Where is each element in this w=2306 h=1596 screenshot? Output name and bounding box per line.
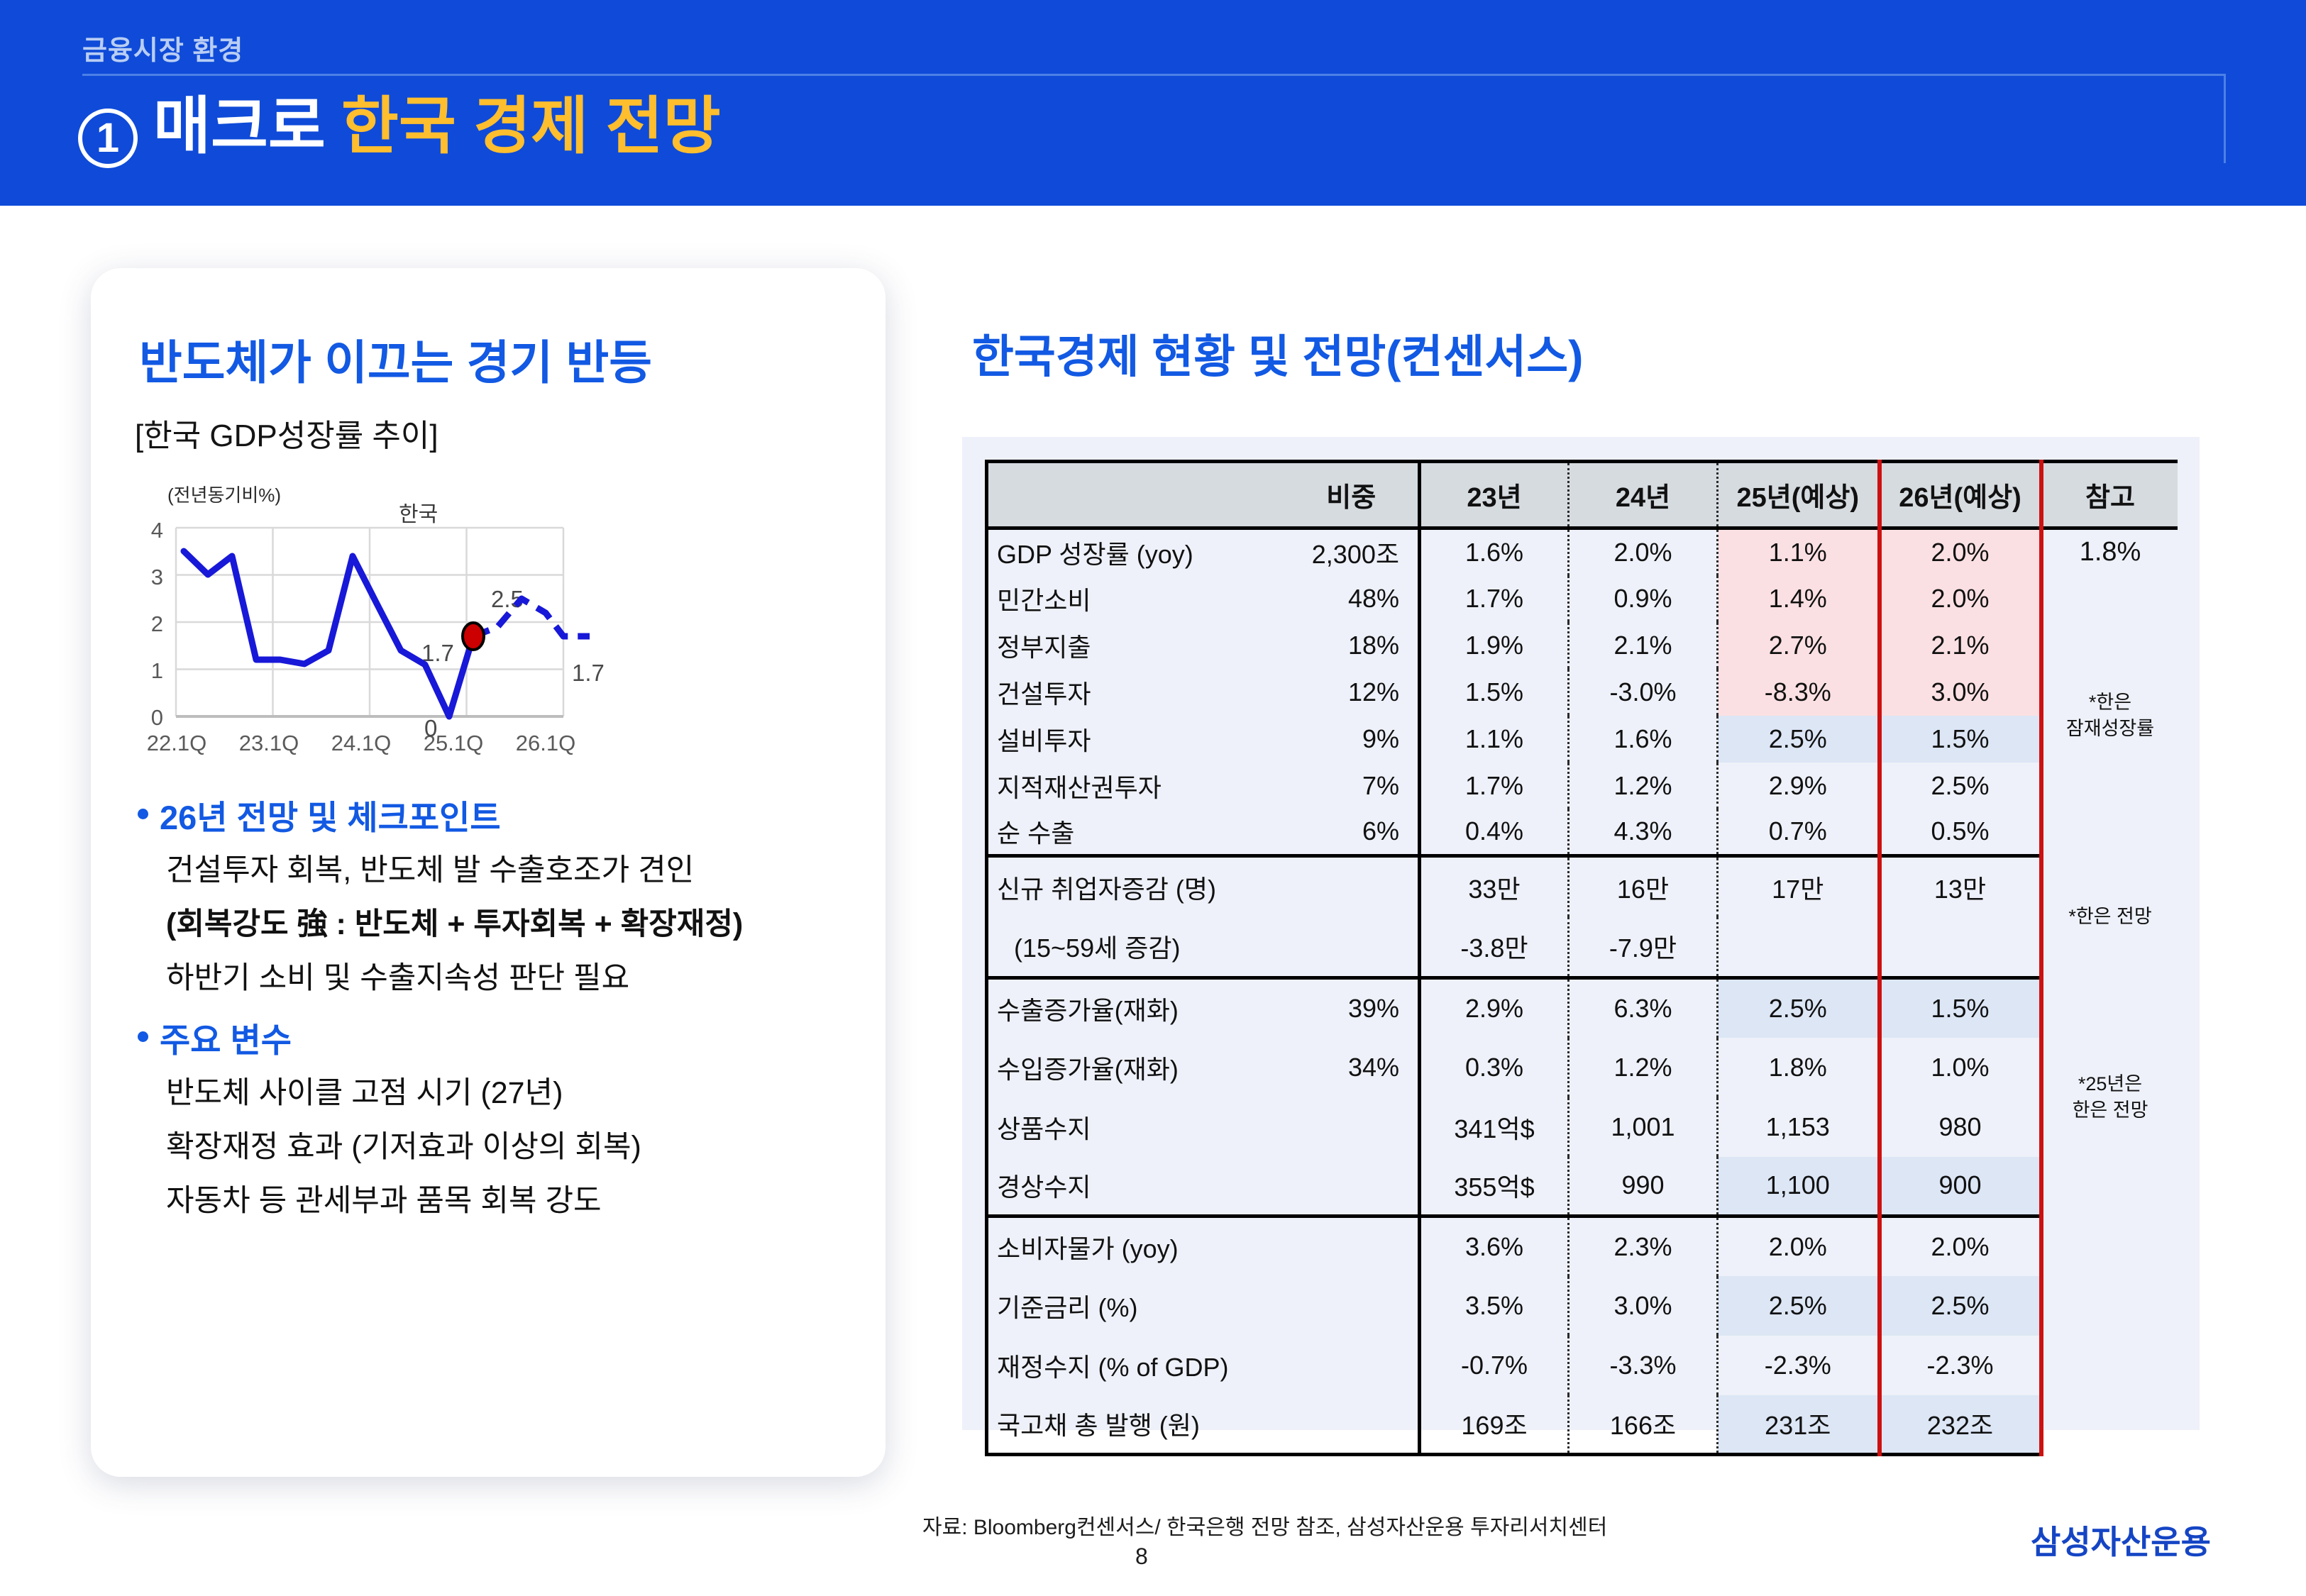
- cell-y23: 341억$: [1420, 1097, 1569, 1157]
- table-row: 수출증가율(재화) 39% 2.9% 6.3% 2.5% 1.5% *25년은한…: [987, 978, 2178, 1038]
- bullet-line: 건설투자 회복, 반도체 발 수출호조가 견인: [166, 852, 861, 890]
- cell-y23: 1.7%: [1420, 763, 1569, 809]
- row-label: 건설투자: [987, 669, 1285, 716]
- chart-line-forecast: [473, 599, 590, 636]
- bullet-line: 반도체 사이클 고점 시기 (27년): [166, 1075, 861, 1113]
- table-row: 신규 취업자증감 (명) 33만 16만 17만 13만 *한은 전망: [987, 856, 2178, 917]
- cell-y25: 1,100: [1718, 1157, 1880, 1217]
- cell-y24: 1.2%: [1569, 763, 1718, 809]
- slide-root: 금융시장 환경 1 매크로 한국 경제 전망 반도체가 이끄는 경기 반등 [한…: [0, 0, 2306, 1596]
- bullet-line: 확장재정 효과 (기저효과 이상의 회복): [166, 1129, 861, 1167]
- cell-y26: 2.5%: [1880, 1276, 2041, 1336]
- table-row: 재정수지 (% of GDP) -0.7% -3.3% -2.3% -2.3%: [987, 1336, 2178, 1395]
- row-weight: [1285, 917, 1420, 978]
- cell-y25: 2.0%: [1718, 1217, 1880, 1276]
- cell-y26: 980: [1880, 1097, 2041, 1157]
- bullet-line: 자동차 등 관세부과 품목 회복 강도: [166, 1182, 861, 1221]
- row-label: 수출증가율(재화): [987, 978, 1285, 1038]
- table-row: 기준금리 (%) 3.5% 3.0% 2.5% 2.5%: [987, 1276, 2178, 1336]
- table-body: GDP 성장률 (yoy) 2,300조 1.6% 2.0% 1.1% 2.0%…: [987, 528, 2178, 1455]
- page-number: 8: [1135, 1544, 1148, 1570]
- table-row: 순 수출 6% 0.4% 4.3% 0.7% 0.5%: [987, 809, 2178, 856]
- cell-note: 1.8%: [2041, 528, 2178, 575]
- cell-y25: 2.5%: [1718, 716, 1880, 763]
- cell-y26: 900: [1880, 1157, 2041, 1217]
- cell-y23: 33만: [1420, 856, 1569, 917]
- row-label: GDP 성장률 (yoy): [987, 528, 1285, 575]
- cell-y26: 3.0%: [1880, 669, 2041, 716]
- cell-y26: 232조: [1880, 1395, 2041, 1455]
- row-label: 순 수출: [987, 809, 1285, 856]
- cell-y25: 1.4%: [1718, 575, 1880, 622]
- table-row: 지적재산권투자 7% 1.7% 1.2% 2.9% 2.5%: [987, 763, 2178, 809]
- cell-y23: 3.6%: [1420, 1217, 1569, 1276]
- cell-y25: 1,153: [1718, 1097, 1880, 1157]
- row-label: 재정수지 (% of GDP): [987, 1336, 1285, 1395]
- table-row: 설비투자 9% 1.1% 1.6% 2.5% 1.5%: [987, 716, 2178, 763]
- table-col-header-blank: [987, 462, 1285, 528]
- row-weight: [1285, 1395, 1420, 1455]
- table-row: GDP 성장률 (yoy) 2,300조 1.6% 2.0% 1.1% 2.0%…: [987, 528, 2178, 575]
- left-panel-title: 반도체가 이끄는 경기 반등: [139, 325, 652, 393]
- table-col-header-y25: 25년(예상): [1718, 462, 1880, 528]
- cell-y26: 2.0%: [1880, 528, 2041, 575]
- table-row: 건설투자 12% 1.5% -3.0% -8.3% 3.0%: [987, 669, 2178, 716]
- cell-y24: 990: [1569, 1157, 1718, 1217]
- cell-y25: 0.7%: [1718, 809, 1880, 856]
- cell-y23: 2.9%: [1420, 978, 1569, 1038]
- page-title-primary: 매크로: [153, 94, 326, 159]
- cell-y26: 1.5%: [1880, 978, 2041, 1038]
- bullet-dot-icon: [138, 809, 148, 819]
- cell-note-potential-growth: *한은잠재성장률: [2041, 575, 2178, 856]
- table-row: 민간소비 48% 1.7% 0.9% 1.4% 2.0% *한은잠재성장률: [987, 575, 2178, 622]
- row-label: 경상수지: [987, 1157, 1285, 1217]
- bullet-line: 하반기 소비 및 수출지속성 판단 필요: [166, 960, 861, 998]
- row-label: 기준금리 (%): [987, 1276, 1285, 1336]
- cell-y26: 13만: [1880, 856, 2041, 917]
- cell-y24: 6.3%: [1569, 978, 1718, 1038]
- row-weight: 6%: [1285, 809, 1420, 856]
- cell-y23: 1.9%: [1420, 622, 1569, 669]
- row-weight: [1285, 1157, 1420, 1217]
- cell-y24: 4.3%: [1569, 809, 1718, 856]
- left-panel-card: 반도체가 이끄는 경기 반등 [한국 GDP성장률 추이] (전년동기비%) 한…: [91, 268, 886, 1477]
- row-weight: [1285, 1276, 1420, 1336]
- company-logo: 삼성자산운용: [2031, 1517, 2211, 1563]
- cell-y23: 1.5%: [1420, 669, 1569, 716]
- cell-y25: 1.1%: [1718, 528, 1880, 575]
- cell-y26: [1880, 917, 2041, 978]
- bullet-heading-variables: 주요 변수: [138, 1013, 861, 1062]
- header-kicker: 금융시장 환경: [82, 28, 243, 67]
- row-weight: 34%: [1285, 1038, 1420, 1097]
- row-label: 소비자물가 (yoy): [987, 1217, 1285, 1276]
- row-weight: [1285, 1217, 1420, 1276]
- table-row: 상품수지 341억$ 1,001 1,153 980: [987, 1097, 2178, 1157]
- chart-current-point-marker: [463, 623, 484, 650]
- table-row: 국고채 총 발행 (원) 169조 166조 231조 232조: [987, 1395, 2178, 1455]
- row-weight: [1285, 1097, 1420, 1157]
- row-weight: [1285, 1336, 1420, 1395]
- cell-y24: -3.3%: [1569, 1336, 1718, 1395]
- bullet-heading-forecast: 26년 전망 및 체크포인트: [138, 790, 861, 839]
- cell-y23: 169조: [1420, 1395, 1569, 1455]
- cell-y23: 3.5%: [1420, 1276, 1569, 1336]
- row-label: 수입증가율(재화): [987, 1038, 1285, 1097]
- row-weight: 18%: [1285, 622, 1420, 669]
- cell-y25: 17만: [1718, 856, 1880, 917]
- table-col-header-y26: 26년(예상): [1880, 462, 2041, 528]
- row-weight: 48%: [1285, 575, 1420, 622]
- table-row: 경상수지 355억$ 990 1,100 900: [987, 1157, 2178, 1217]
- cell-y24: 2.3%: [1569, 1217, 1718, 1276]
- row-weight: 39%: [1285, 978, 1420, 1038]
- cell-note-empty: [2041, 1217, 2178, 1455]
- bullet-dot-icon: [138, 1031, 148, 1042]
- table-row: (15~59세 증감) -3.8만 -7.9만: [987, 917, 2178, 978]
- row-label: 설비투자: [987, 716, 1285, 763]
- cell-y26: 0.5%: [1880, 809, 2041, 856]
- row-weight: 9%: [1285, 716, 1420, 763]
- page-title-accent: 한국 경제 전망: [341, 94, 721, 159]
- cell-y23: 1.1%: [1420, 716, 1569, 763]
- cell-y26: -2.3%: [1880, 1336, 2041, 1395]
- cell-y23: 355억$: [1420, 1157, 1569, 1217]
- header-right-edge: [2224, 74, 2226, 163]
- cell-y26: 2.0%: [1880, 1217, 2041, 1276]
- cell-y24: 0.9%: [1569, 575, 1718, 622]
- row-weight: [1285, 856, 1420, 917]
- row-label: 민간소비: [987, 575, 1285, 622]
- cell-y25: 2.7%: [1718, 622, 1880, 669]
- korea-economy-table: 비중 23년 24년 25년(예상) 26년(예상) 참고 GDP 성장률 (y…: [985, 460, 2178, 1456]
- cell-y24: 16만: [1569, 856, 1718, 917]
- cell-y23: -3.8만: [1420, 917, 1569, 978]
- page-title: 1 매크로 한국 경제 전망: [78, 94, 721, 164]
- table-col-header-note: 참고: [2041, 462, 2178, 528]
- cell-y24: 3.0%: [1569, 1276, 1718, 1336]
- table-col-header-y23: 23년: [1420, 462, 1569, 528]
- row-label: 국고채 총 발행 (원): [987, 1395, 1285, 1455]
- cell-y24: 2.1%: [1569, 622, 1718, 669]
- cell-note-bok-forecast: *한은 전망: [2041, 856, 2178, 978]
- cell-y25: -8.3%: [1718, 669, 1880, 716]
- cell-y25: 2.9%: [1718, 763, 1880, 809]
- table-row: 수입증가율(재화) 34% 0.3% 1.2% 1.8% 1.0%: [987, 1038, 2178, 1097]
- table-col-header-y24: 24년: [1569, 462, 1718, 528]
- table-header-row: 비중 23년 24년 25년(예상) 26년(예상) 참고: [987, 462, 2178, 528]
- cell-y25: [1718, 917, 1880, 978]
- chart-line-actual: [184, 551, 473, 716]
- slide-header: 금융시장 환경 1 매크로 한국 경제 전망: [0, 0, 2306, 206]
- cell-y23: 0.3%: [1420, 1038, 1569, 1097]
- bullet-heading-label: 26년 전망 및 체크포인트: [160, 790, 501, 839]
- cell-y23: 1.7%: [1420, 575, 1569, 622]
- cell-y26: 1.0%: [1880, 1038, 2041, 1097]
- chart-caption: [한국 GDP성장률 추이]: [135, 410, 438, 455]
- bullet-heading-label: 주요 변수: [160, 1013, 292, 1062]
- header-rule: [82, 74, 2225, 76]
- cell-y26: 2.0%: [1880, 575, 2041, 622]
- row-label: 정부지출: [987, 622, 1285, 669]
- cell-y24: 1.2%: [1569, 1038, 1718, 1097]
- cell-y24: -3.0%: [1569, 669, 1718, 716]
- row-weight: 12%: [1285, 669, 1420, 716]
- cell-y25: 2.5%: [1718, 978, 1880, 1038]
- cell-y24: 1,001: [1569, 1097, 1718, 1157]
- cell-y24: -7.9만: [1569, 917, 1718, 978]
- cell-y23: -0.7%: [1420, 1336, 1569, 1395]
- row-label: 지적재산권투자: [987, 763, 1285, 809]
- row-weight: 7%: [1285, 763, 1420, 809]
- cell-y23: 1.6%: [1420, 528, 1569, 575]
- bullet-line: (회복강도 強 : 반도체 + 투자회복 + 확장재정): [166, 906, 861, 944]
- cell-y25: 2.5%: [1718, 1276, 1880, 1336]
- cell-y26: 1.5%: [1880, 716, 2041, 763]
- left-panel-bullets: 26년 전망 및 체크포인트 건설투자 회복, 반도체 발 수출호조가 견인 (…: [138, 779, 861, 1236]
- cell-y24: 1.6%: [1569, 716, 1718, 763]
- table-row: 정부지출 18% 1.9% 2.1% 2.7% 2.1%: [987, 622, 2178, 669]
- cell-y25: -2.3%: [1718, 1336, 1880, 1395]
- cell-y26: 2.5%: [1880, 763, 2041, 809]
- cell-note-25-bok: *25년은한은 전망: [2041, 978, 2178, 1217]
- cell-y26: 2.1%: [1880, 622, 2041, 669]
- row-label: 상품수지: [987, 1097, 1285, 1157]
- cell-y25: 231조: [1718, 1395, 1880, 1455]
- cell-y23: 0.4%: [1420, 809, 1569, 856]
- gdp-growth-chart: (전년동기비%) 한국 4 3 2 1 0 22.1Q 23.1Q 24.1Q …: [116, 481, 868, 765]
- source-note: 자료: Bloomberg컨센서스/ 한국은행 전망 참조, 삼성자산운용 투자…: [922, 1509, 1607, 1541]
- right-panel-title: 한국경제 현황 및 전망(컨센서스): [972, 321, 1583, 386]
- table-row: 소비자물가 (yoy) 3.6% 2.3% 2.0% 2.0%: [987, 1217, 2178, 1276]
- cell-y24: 166조: [1569, 1395, 1718, 1455]
- section-number-badge: 1: [78, 109, 138, 168]
- cell-y25: 1.8%: [1718, 1038, 1880, 1097]
- row-label: (15~59세 증감): [987, 917, 1285, 978]
- cell-y24: 2.0%: [1569, 528, 1718, 575]
- row-weight: 2,300조: [1285, 528, 1420, 575]
- table-col-header-weight: 비중: [1285, 462, 1420, 528]
- chart-plot-area: [116, 481, 868, 765]
- row-label: 신규 취업자증감 (명): [987, 856, 1285, 917]
